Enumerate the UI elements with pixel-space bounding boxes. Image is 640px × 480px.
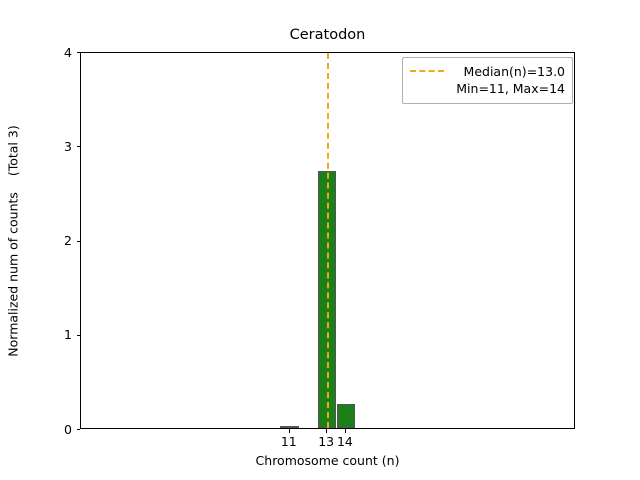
x-tick-mark-14 [345, 429, 346, 433]
legend-text: Median(n)=13.0 Min=11, Max=14 [451, 63, 565, 97]
y-tick-label-0: 0 [64, 423, 72, 436]
y-tick-mark-0 [77, 429, 81, 430]
y-axis-title-container: Normalized num of counts (Total 3) [0, 52, 26, 429]
y-tick-label-3: 3 [64, 140, 72, 153]
plot-inner [81, 53, 574, 428]
x-tick-mark-11 [289, 429, 290, 433]
legend-entry-median: Median(n)=13.0 [451, 63, 565, 80]
median-line [327, 53, 329, 428]
legend: Median(n)=13.0 Min=11, Max=14 [402, 57, 573, 104]
median-line-swatch-icon [410, 63, 444, 79]
bar-14[interactable] [337, 404, 356, 428]
x-tick-label-14: 14 [337, 434, 353, 449]
y-tick-label-1: 1 [64, 328, 72, 341]
y-axis-title: Normalized num of counts (Total 3) [6, 125, 21, 356]
x-tick-label-11: 11 [281, 434, 297, 449]
y-tick-label-2: 2 [64, 234, 72, 247]
plot-area [80, 52, 575, 429]
x-tick-label-13: 13 [318, 434, 334, 449]
page-title: Ceratodon [80, 26, 575, 44]
bar-11[interactable] [280, 426, 299, 428]
legend-entry-minmax: Min=11, Max=14 [451, 80, 565, 97]
x-tick-mark-13 [326, 429, 327, 433]
chart-figure: Ceratodon Normalized num of counts (Tota… [0, 0, 640, 480]
x-axis-title: Chromosome count (n) [80, 453, 575, 468]
y-tick-label-4: 4 [64, 46, 72, 59]
